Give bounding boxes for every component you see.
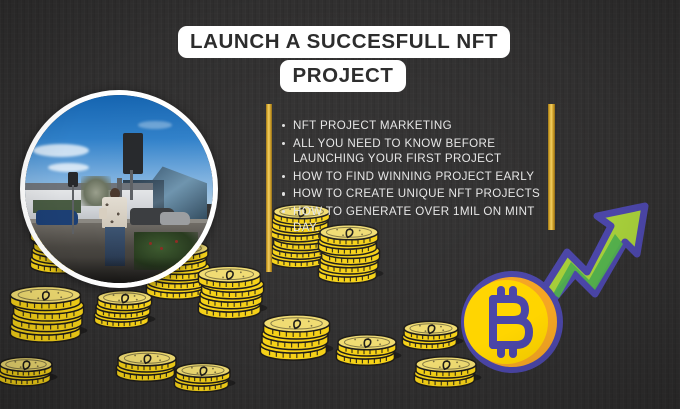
title-line-1: LAUNCH A SUCCESFULL NFT: [178, 26, 510, 58]
list-item: HOW TO CREATE UNIQUE NFT PROJECTS: [280, 186, 548, 202]
coin: [404, 321, 458, 341]
profile-photo-image: [25, 95, 213, 283]
photo-cloud: [48, 163, 89, 172]
list-item: ALL YOU NEED TO KNOW BEFORE LAUNCHING YO…: [280, 136, 548, 167]
bitcoin-b-symbol: [493, 290, 529, 354]
coin: [338, 335, 396, 356]
coin-stack: [260, 315, 333, 360]
coin-stack: [116, 351, 181, 382]
coin: [10, 286, 80, 310]
coin: [118, 351, 176, 372]
list-item: HOW TO GENERATE OVER 1MIL ON MINT DAY.: [280, 204, 548, 235]
coin-stack: [94, 291, 155, 328]
photo-sign-post: [72, 185, 74, 234]
photo-flower: [149, 242, 152, 245]
coin-stack: [174, 363, 235, 392]
coin-stack: [10, 286, 87, 342]
list-item: NFT PROJECT MARKETING: [280, 118, 548, 134]
promo-graphic: LAUNCH A SUCCESFULL NFT PROJECT: [0, 0, 680, 409]
photo-foreground-shadow: [25, 257, 213, 283]
gold-vertical-bar-left: [266, 104, 272, 272]
coin-stack: [402, 321, 463, 350]
coin: [98, 291, 152, 311]
photo-cloud: [33, 144, 89, 157]
photo-car: [160, 212, 190, 225]
profile-photo-circle: [20, 90, 218, 288]
coin: [264, 315, 330, 339]
coin: [176, 363, 230, 383]
photo-cloud: [138, 121, 172, 129]
photo-sign: [123, 133, 144, 174]
coin: [0, 357, 52, 377]
bitcoin-coin-icon: [460, 268, 564, 376]
photo-person-arm: [99, 208, 107, 219]
feature-bullet-list: NFT PROJECT MARKETING ALL YOU NEED TO KN…: [280, 118, 548, 237]
coin-stack: [336, 335, 401, 366]
photo-sign-post: [130, 170, 133, 200]
list-item: HOW TO FIND WINNING PROJECT EARLY: [280, 169, 548, 185]
title-line-2: PROJECT: [280, 60, 405, 92]
coin-stack: [0, 357, 57, 386]
page-title: LAUNCH A SUCCESFULL NFT PROJECT: [178, 26, 508, 92]
